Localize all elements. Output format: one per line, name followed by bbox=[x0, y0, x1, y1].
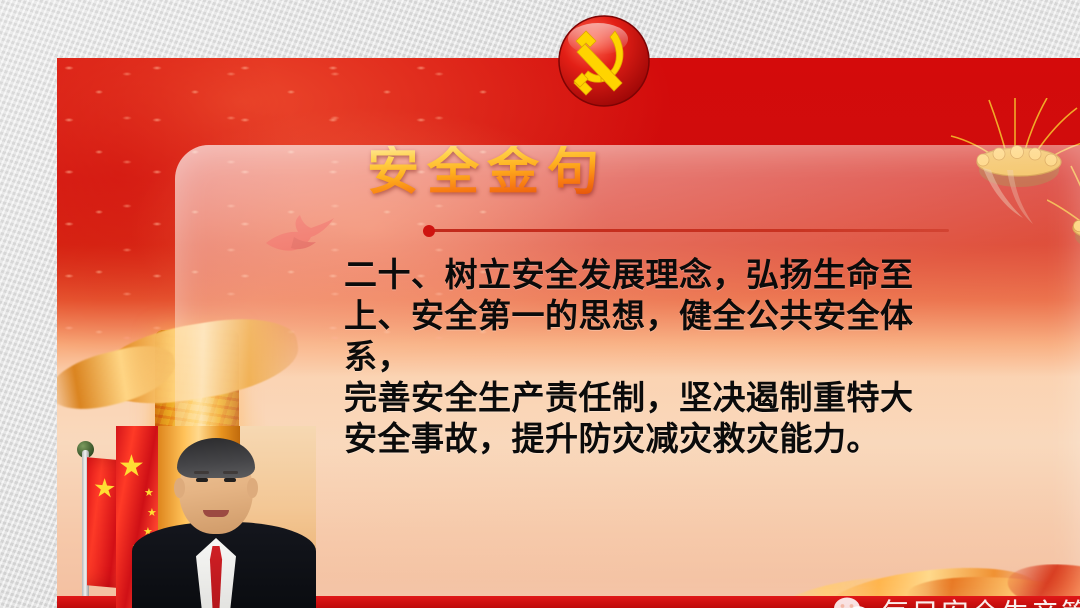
column-cloud-lower bbox=[57, 337, 181, 418]
body-line: 二十、树立安全发展理念，弘扬生命至 bbox=[344, 254, 984, 295]
body-line: 上、安全第一的思想，健全公共安全体 bbox=[344, 295, 984, 336]
body-line: 系， bbox=[344, 336, 984, 377]
portrait-brow bbox=[223, 471, 238, 474]
red-dot-marker-icon bbox=[423, 225, 435, 237]
body-line: 安全事故，提升防灾减灾救灾能力。 bbox=[344, 418, 984, 459]
flag-finial-icon bbox=[77, 441, 94, 458]
flag-pole bbox=[82, 450, 89, 608]
party-emblem-hammer-sickle-icon bbox=[552, 13, 656, 109]
portrait-eye bbox=[196, 478, 208, 482]
portrait-ear bbox=[247, 478, 258, 498]
page-title: 安全金句 bbox=[367, 146, 607, 198]
speaker-portrait: ★ ★ ★ ★ ★ bbox=[116, 426, 316, 608]
flag-star-small-icon: ★ bbox=[144, 488, 154, 499]
slide-stage: ★ ★ ★ ★ ★ bbox=[0, 0, 1080, 608]
flag-star-small-icon: ★ bbox=[147, 508, 157, 519]
slide-canvas: ★ ★ ★ ★ ★ bbox=[57, 58, 1080, 608]
portrait-mouth bbox=[203, 510, 229, 517]
portrait-brow bbox=[194, 471, 209, 474]
title-divider bbox=[429, 229, 949, 232]
flag-star-large-icon: ★ bbox=[118, 452, 145, 482]
slide-body-text: 二十、树立安全发展理念，弘扬生命至 上、安全第一的思想，健全公共安全体 系， 完… bbox=[344, 254, 984, 459]
flag-star-large-icon: ★ bbox=[93, 474, 116, 502]
portrait-eye bbox=[224, 478, 236, 482]
portrait-ear bbox=[174, 478, 185, 498]
body-line: 完善安全生产责任制，坚决遏制重特大 bbox=[344, 377, 984, 418]
